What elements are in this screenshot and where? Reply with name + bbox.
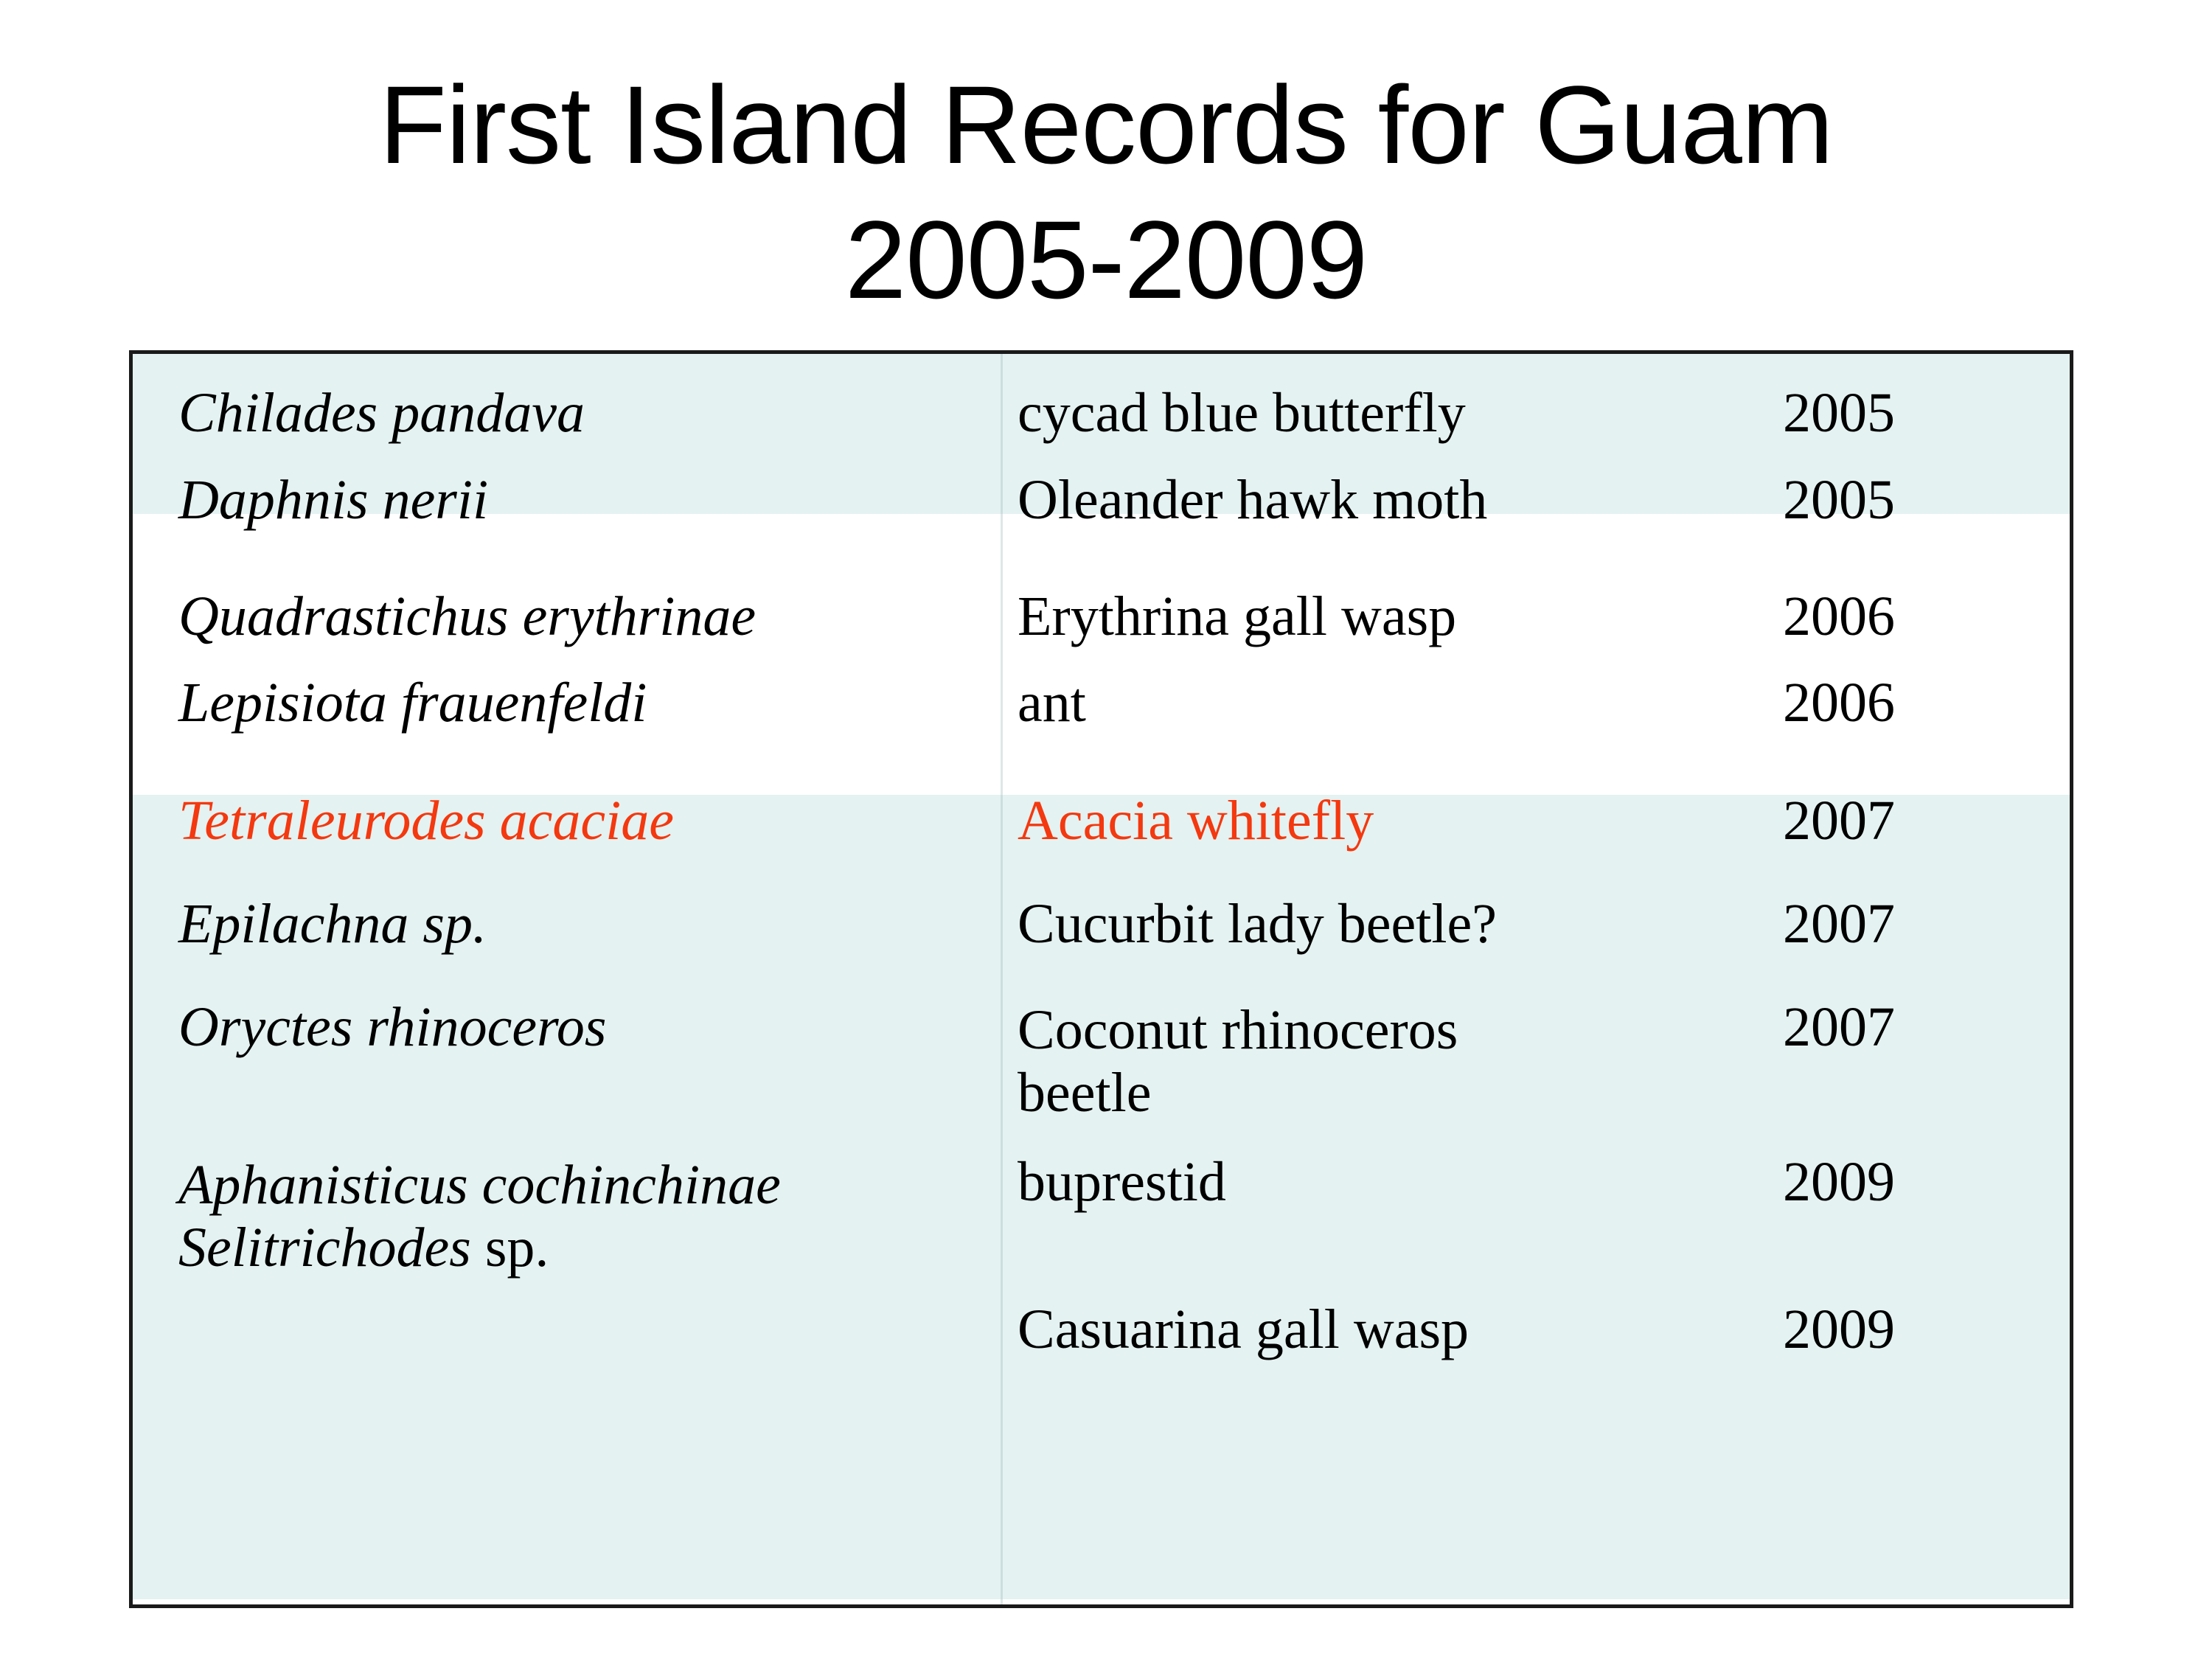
year-cell: 2006 — [1783, 675, 2026, 731]
table-row: Chilades pandava — [178, 385, 990, 441]
table-row: Oryctes rhinoceros — [178, 999, 990, 1055]
year-cell: 2007 — [1783, 896, 2026, 952]
scientific-name-line-2: Selitrichodes — [178, 1217, 471, 1279]
year-cell: 2006 — [1783, 588, 2026, 644]
species-abbrev: sp. — [471, 1217, 549, 1279]
table-row: Quadrastichus erythrinae — [178, 588, 990, 644]
table-row: Lepisiota frauenfeldi — [178, 675, 990, 731]
column-divider — [1001, 354, 1003, 1604]
common-name-cell: Oleander hawk moth — [1018, 472, 1836, 528]
table-row: Aphanisticus cochinchinaeSelitrichodes s… — [178, 1154, 990, 1279]
common-name-cell: cycad blue butterfly — [1018, 385, 1836, 441]
scientific-name-line-1: Aphanisticus cochinchinae — [178, 1154, 781, 1216]
common-name-cell: ant — [1018, 675, 1836, 731]
common-name-cell: buprestid — [1018, 1154, 1836, 1210]
year-cell: 2005 — [1783, 385, 2026, 441]
common-name-cell: Erythrina gall wasp — [1018, 588, 1836, 644]
year-cell: 2005 — [1783, 472, 2026, 528]
table-row: Daphnis nerii — [178, 472, 990, 528]
year-cell: 2007 — [1783, 793, 2026, 849]
table-row: Epilachna sp. — [178, 896, 990, 952]
records-table: Chilades pandava cycad blue butterfly 20… — [129, 350, 2073, 1608]
table-row-highlighted: Tetraleurodes acaciae — [178, 793, 990, 849]
year-cell: 2009 — [1783, 1154, 2026, 1210]
common-name-cell: Coconut rhinoceros beetle — [1018, 999, 1836, 1124]
common-name-cell: Casuarina gall wasp — [1018, 1301, 1836, 1357]
common-name-cell: Acacia whitefly — [1018, 793, 1836, 849]
year-cell: 2007 — [1783, 999, 2026, 1055]
page-title: First Island Records for Guam 2005-2009 — [0, 58, 2212, 327]
common-name-cell: Cucurbit lady beetle? — [1018, 896, 1836, 952]
year-cell: 2009 — [1783, 1301, 2026, 1357]
